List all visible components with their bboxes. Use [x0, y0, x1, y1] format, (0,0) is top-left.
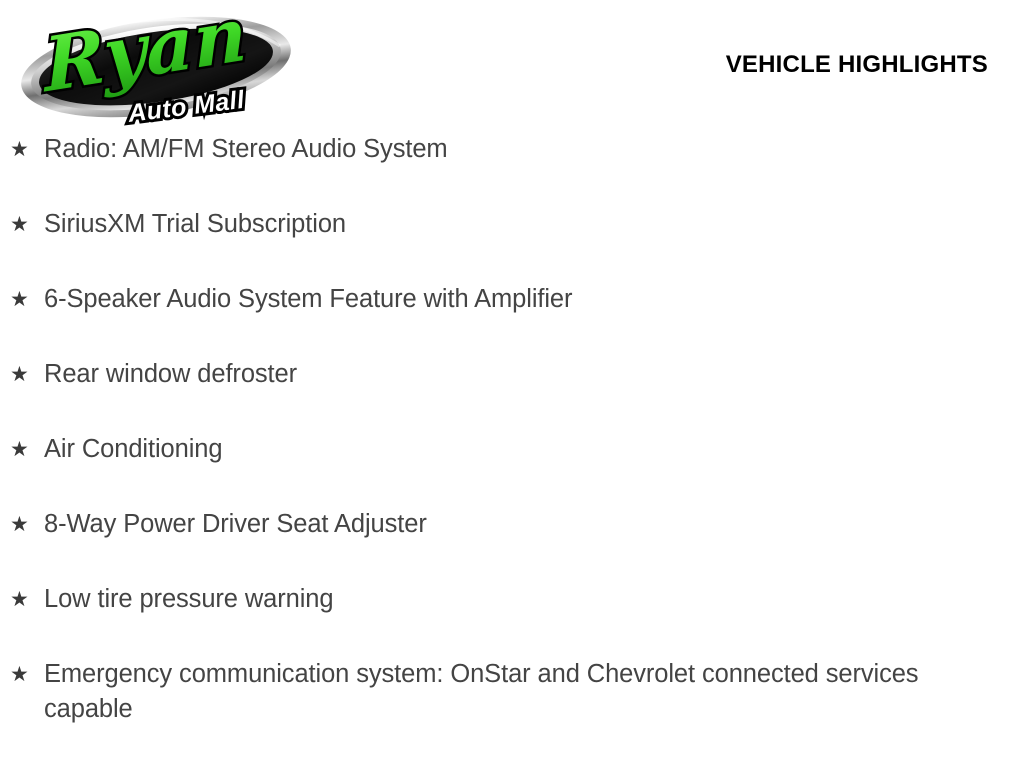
- list-item-label: 8-Way Power Driver Seat Adjuster: [44, 507, 988, 542]
- star-icon: ★: [0, 132, 44, 167]
- ryan-auto-mall-logo: Ryan Auto Mall: [18, 8, 294, 126]
- star-icon: ★: [0, 357, 44, 392]
- list-item-label: Radio: AM/FM Stereo Audio System: [44, 132, 988, 167]
- list-item: ★ Emergency communication system: OnStar…: [0, 657, 1024, 732]
- star-icon: ★: [0, 432, 44, 467]
- list-item: ★ Low tire pressure warning: [0, 582, 1024, 657]
- star-icon: ★: [0, 657, 44, 692]
- list-item: ★ 6-Speaker Audio System Feature with Am…: [0, 282, 1024, 357]
- list-item-label: Emergency communication system: OnStar a…: [44, 657, 988, 727]
- star-icon: ★: [0, 507, 44, 542]
- star-icon: ★: [0, 207, 44, 242]
- list-item-label: Low tire pressure warning: [44, 582, 988, 617]
- list-item: ★ 8-Way Power Driver Seat Adjuster: [0, 507, 1024, 582]
- list-item-label: Rear window defroster: [44, 357, 988, 392]
- list-item-label: SiriusXM Trial Subscription: [44, 207, 988, 242]
- list-item-label: 6-Speaker Audio System Feature with Ampl…: [44, 282, 988, 317]
- page-title: VEHICLE HIGHLIGHTS: [726, 51, 988, 79]
- star-icon: ★: [0, 582, 44, 617]
- star-icon: ★: [0, 282, 44, 317]
- vehicle-highlights-list: ★ Radio: AM/FM Stereo Audio System ★ Sir…: [0, 132, 1024, 732]
- list-item: ★ Air Conditioning: [0, 432, 1024, 507]
- vehicle-highlights-page: Ryan Auto Mall VEHICLE HIGHLIGHTS ★ Radi…: [0, 0, 1024, 768]
- page-header: Ryan Auto Mall VEHICLE HIGHLIGHTS: [0, 0, 1024, 132]
- list-item-label: Air Conditioning: [44, 432, 988, 467]
- list-item: ★ SiriusXM Trial Subscription: [0, 207, 1024, 282]
- list-item: ★ Rear window defroster: [0, 357, 1024, 432]
- list-item: ★ Radio: AM/FM Stereo Audio System: [0, 132, 1024, 207]
